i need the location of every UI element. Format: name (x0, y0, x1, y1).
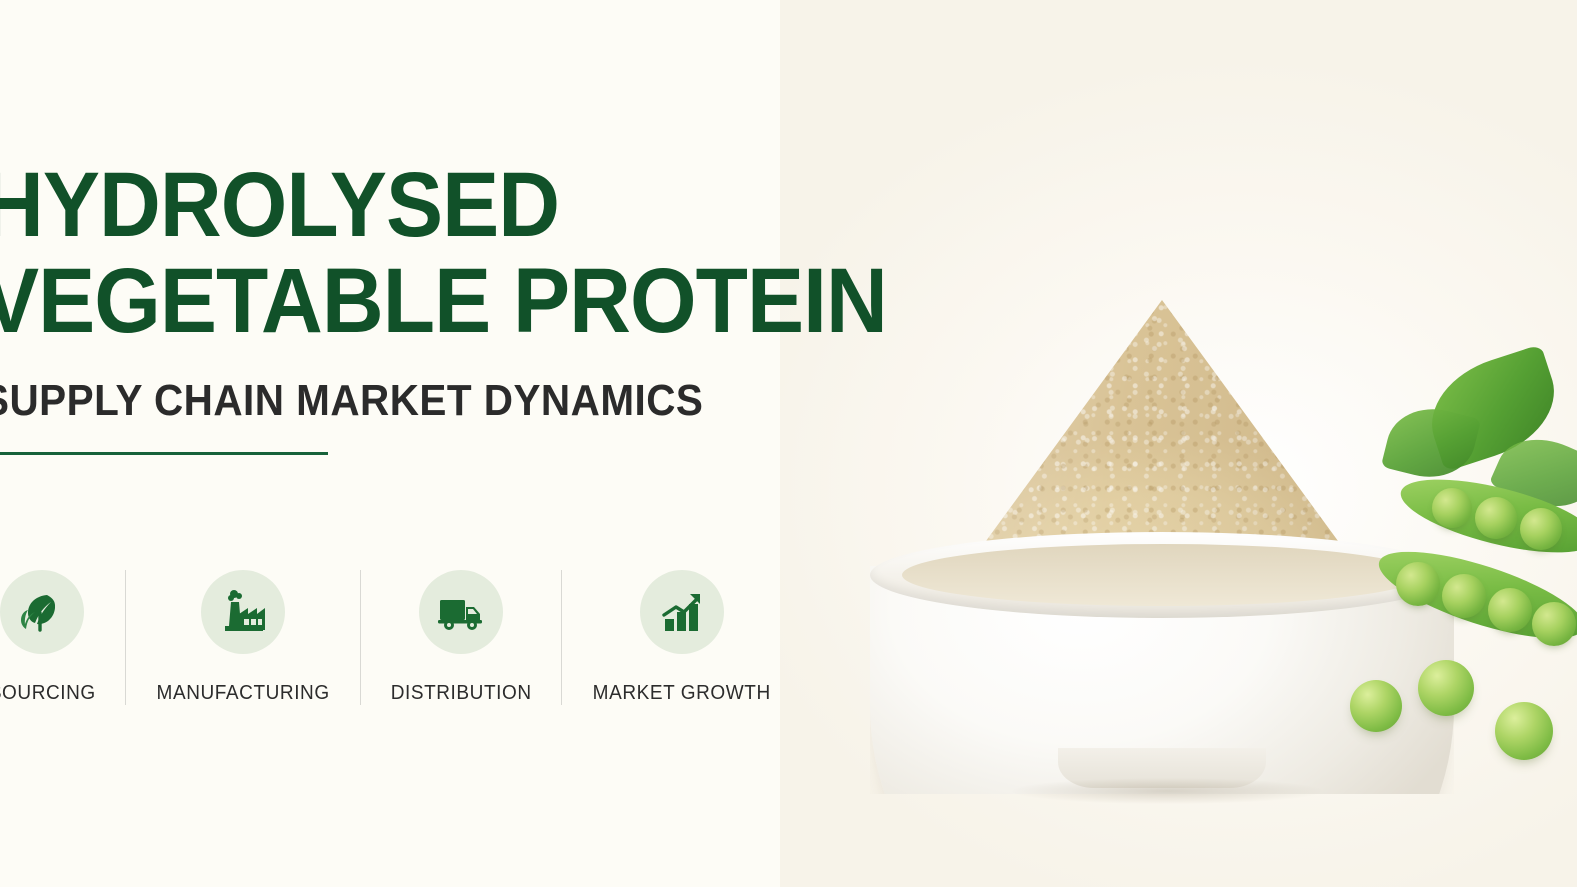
feature-label-sourcing: SOURCING (0, 682, 96, 705)
feature-strip: SOURCING MANUFACTURING (0, 570, 802, 705)
factory-icon (201, 570, 285, 654)
feature-item-sourcing[interactable]: SOURCING (0, 570, 125, 705)
pea-in-pod (1442, 574, 1486, 618)
feature-label-distribution: DISTRIBUTION (391, 682, 532, 705)
bar-chart-growth-icon (640, 570, 724, 654)
pea-in-pod (1475, 497, 1517, 539)
pea-in-pod (1532, 602, 1576, 646)
pea-produce-image (1380, 380, 1577, 820)
page-title-line-2: VEGETABLE PROTEIN (0, 256, 838, 346)
pea-in-pod (1520, 508, 1562, 550)
page-subtitle: SUPPLY CHAIN MARKET DYNAMICS (0, 376, 828, 426)
accent-divider (0, 452, 328, 455)
hero-banner: HYDROLYSED VEGETABLE PROTEIN SUPPLY CHAI… (0, 0, 1577, 887)
headline-block: HYDROLYSED VEGETABLE PROTEIN SUPPLY CHAI… (0, 160, 902, 455)
feature-item-distribution[interactable]: DISTRIBUTION (360, 570, 561, 705)
feature-label-manufacturing: MANUFACTURING (156, 682, 329, 705)
pea-in-pod (1396, 562, 1440, 606)
pea-in-pod (1488, 588, 1532, 632)
bowl-inner-surface (902, 544, 1422, 606)
loose-pea (1495, 702, 1553, 760)
delivery-truck-icon (419, 570, 503, 654)
bowl-drop-shadow (1012, 778, 1322, 804)
feature-item-market-growth[interactable]: MARKET GROWTH (561, 570, 801, 705)
ceramic-bowl (862, 532, 1462, 800)
page-title-line-1: HYDROLYSED (0, 160, 838, 250)
feature-label-market-growth: MARKET GROWTH (593, 682, 771, 705)
loose-pea (1350, 680, 1402, 732)
pea-in-pod (1432, 488, 1472, 528)
feature-item-manufacturing[interactable]: MANUFACTURING (125, 570, 360, 705)
leaf-sprout-icon (0, 570, 84, 654)
loose-pea (1418, 660, 1474, 716)
